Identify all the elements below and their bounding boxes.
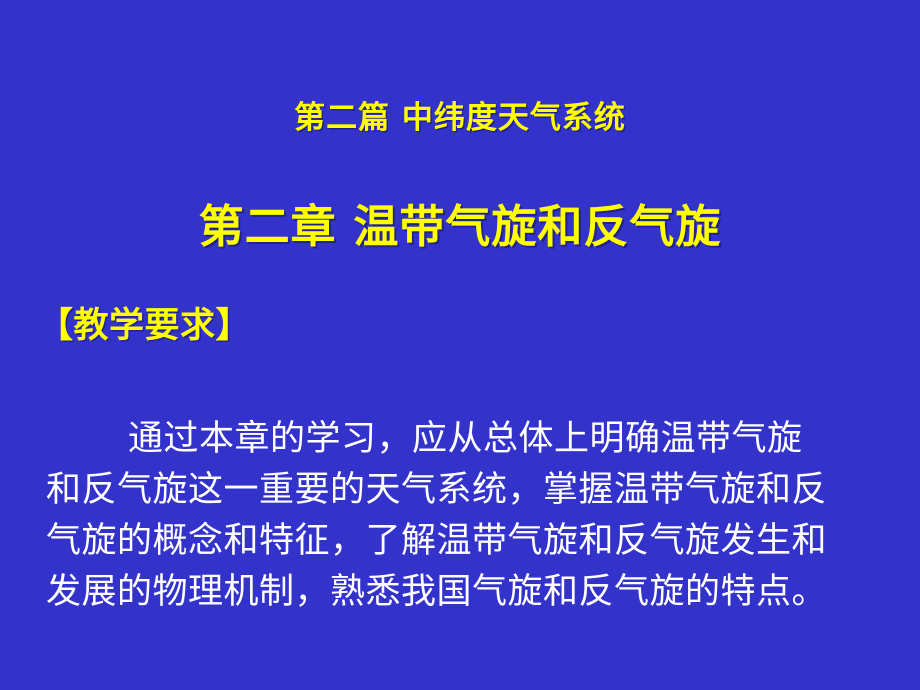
- body-line: 通过本章的学习，应从总体上明确温带气旋: [46, 414, 882, 465]
- part-title: 第二篇 中纬度天气系统: [0, 98, 920, 138]
- chapter-title: 第二章 温带气旋和反气旋: [0, 198, 920, 256]
- slide-canvas: 第二篇 中纬度天气系统 第二章 温带气旋和反气旋 【教学要求】 通过本章的学习，…: [0, 0, 920, 690]
- body-line: 发展的物理机制，熟悉我国气旋和反气旋的特点。: [46, 567, 882, 618]
- body-line: 气旋的概念和特征，了解温带气旋和反气旋发生和: [46, 516, 882, 567]
- body-line: 和反气旋这一重要的天气系统，掌握温带气旋和反: [46, 465, 882, 516]
- section-heading-teaching-requirements: 【教学要求】: [38, 303, 251, 349]
- body-paragraph: 通过本章的学习，应从总体上明确温带气旋 和反气旋这一重要的天气系统，掌握温带气旋…: [46, 414, 882, 618]
